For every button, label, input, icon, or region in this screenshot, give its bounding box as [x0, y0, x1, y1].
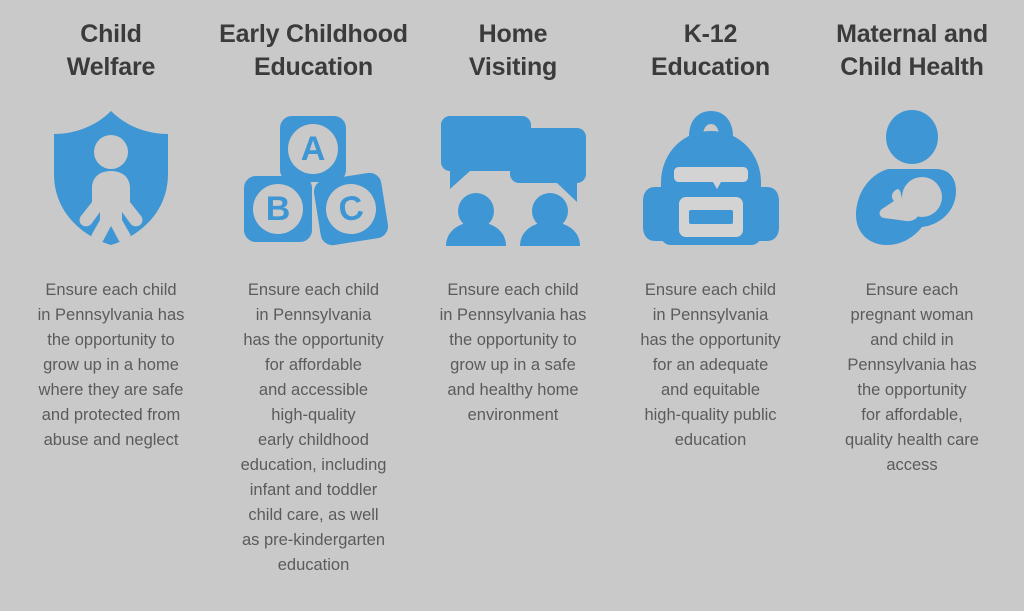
body-line: in Pennsylvania — [213, 303, 414, 328]
backpack-icon — [641, 102, 781, 254]
body-line: and equitable — [612, 378, 809, 403]
body-line: and child in — [815, 328, 1009, 353]
column-title-child-welfare: Child Welfare — [12, 18, 210, 84]
body-line: education, including — [213, 453, 414, 478]
column-title-k-12-education: K-12 Education — [609, 18, 812, 84]
column-title-home-visiting: Home Visiting — [417, 18, 609, 84]
body-line: in Pennsylvania — [612, 303, 809, 328]
body-line: the opportunity to — [15, 328, 207, 353]
body-line: Ensure each — [815, 278, 1009, 303]
body-line: for affordable — [213, 353, 414, 378]
column-title-maternal-and-child-health: Maternal and Child Health — [812, 18, 1012, 84]
shield-child-icon — [46, 102, 176, 254]
column-maternal-and-child-health: Maternal and Child Health Ensure each pr… — [812, 18, 1012, 478]
body-line: has the opportunity — [612, 328, 809, 353]
body-line: Ensure each child — [15, 278, 207, 303]
abc-blocks-icon: A B C — [238, 102, 390, 254]
column-body-maternal-and-child-health: Ensure each pregnant woman and child in … — [812, 278, 1012, 478]
body-line: quality health care — [815, 428, 1009, 453]
mother-and-baby-icon — [852, 102, 972, 254]
body-line: infant and toddler — [213, 478, 414, 503]
column-title-early-childhood-education: Early Childhood Education — [210, 18, 417, 84]
body-line: as pre-kindergarten — [213, 528, 414, 553]
body-line: child care, as well — [213, 503, 414, 528]
body-line: the opportunity — [815, 378, 1009, 403]
body-line: and healthy home — [420, 378, 606, 403]
body-line: the opportunity to — [420, 328, 606, 353]
svg-text:B: B — [265, 190, 290, 228]
body-line: for affordable, — [815, 403, 1009, 428]
body-line: Ensure each child — [213, 278, 414, 303]
body-line: and protected from — [15, 403, 207, 428]
body-line: access — [815, 453, 1009, 478]
body-line: high-quality public — [612, 403, 809, 428]
column-child-welfare: Child Welfare Ensure each child in Penns… — [12, 18, 210, 453]
body-line: Ensure each child — [420, 278, 606, 303]
column-home-visiting: Home Visiting Ensure each child in Penns… — [417, 18, 609, 428]
priority-areas-infographic: Child Welfare Ensure each child in Penns… — [0, 0, 1024, 611]
body-line: in Pennsylvania has — [420, 303, 606, 328]
title-line: Child — [12, 18, 210, 51]
title-line: Welfare — [12, 51, 210, 84]
title-line: Early Childhood — [210, 18, 417, 51]
body-line: where they are safe — [15, 378, 207, 403]
two-people-speech-bubbles-icon — [436, 102, 591, 254]
title-line: Maternal and — [812, 18, 1012, 51]
body-line: grow up in a home — [15, 353, 207, 378]
svg-text:A: A — [300, 130, 325, 168]
column-body-k-12-education: Ensure each child in Pennsylvania has th… — [609, 278, 812, 453]
body-line: high-quality — [213, 403, 414, 428]
column-k-12-education: K-12 Education Ensure each child — [609, 18, 812, 453]
column-body-early-childhood-education: Ensure each child in Pennsylvania has th… — [210, 278, 417, 578]
body-line: Ensure each child — [612, 278, 809, 303]
column-body-child-welfare: Ensure each child in Pennsylvania has th… — [12, 278, 210, 453]
title-line: K-12 — [609, 18, 812, 51]
body-line: education — [612, 428, 809, 453]
body-line: and accessible — [213, 378, 414, 403]
body-line: has the opportunity — [213, 328, 414, 353]
body-line: pregnant woman — [815, 303, 1009, 328]
body-line: Pennsylvania has — [815, 353, 1009, 378]
body-line: abuse and neglect — [15, 428, 207, 453]
title-line: Education — [210, 51, 417, 84]
body-line: in Pennsylvania has — [15, 303, 207, 328]
title-line: Visiting — [417, 51, 609, 84]
title-line: Child Health — [812, 51, 1012, 84]
title-line: Education — [609, 51, 812, 84]
title-line: Home — [417, 18, 609, 51]
body-line: education — [213, 553, 414, 578]
column-early-childhood-education: Early Childhood Education A B — [210, 18, 417, 578]
body-line: grow up in a safe — [420, 353, 606, 378]
body-line: environment — [420, 403, 606, 428]
column-body-home-visiting: Ensure each child in Pennsylvania has th… — [417, 278, 609, 428]
body-line: early childhood — [213, 428, 414, 453]
body-line: for an adequate — [612, 353, 809, 378]
